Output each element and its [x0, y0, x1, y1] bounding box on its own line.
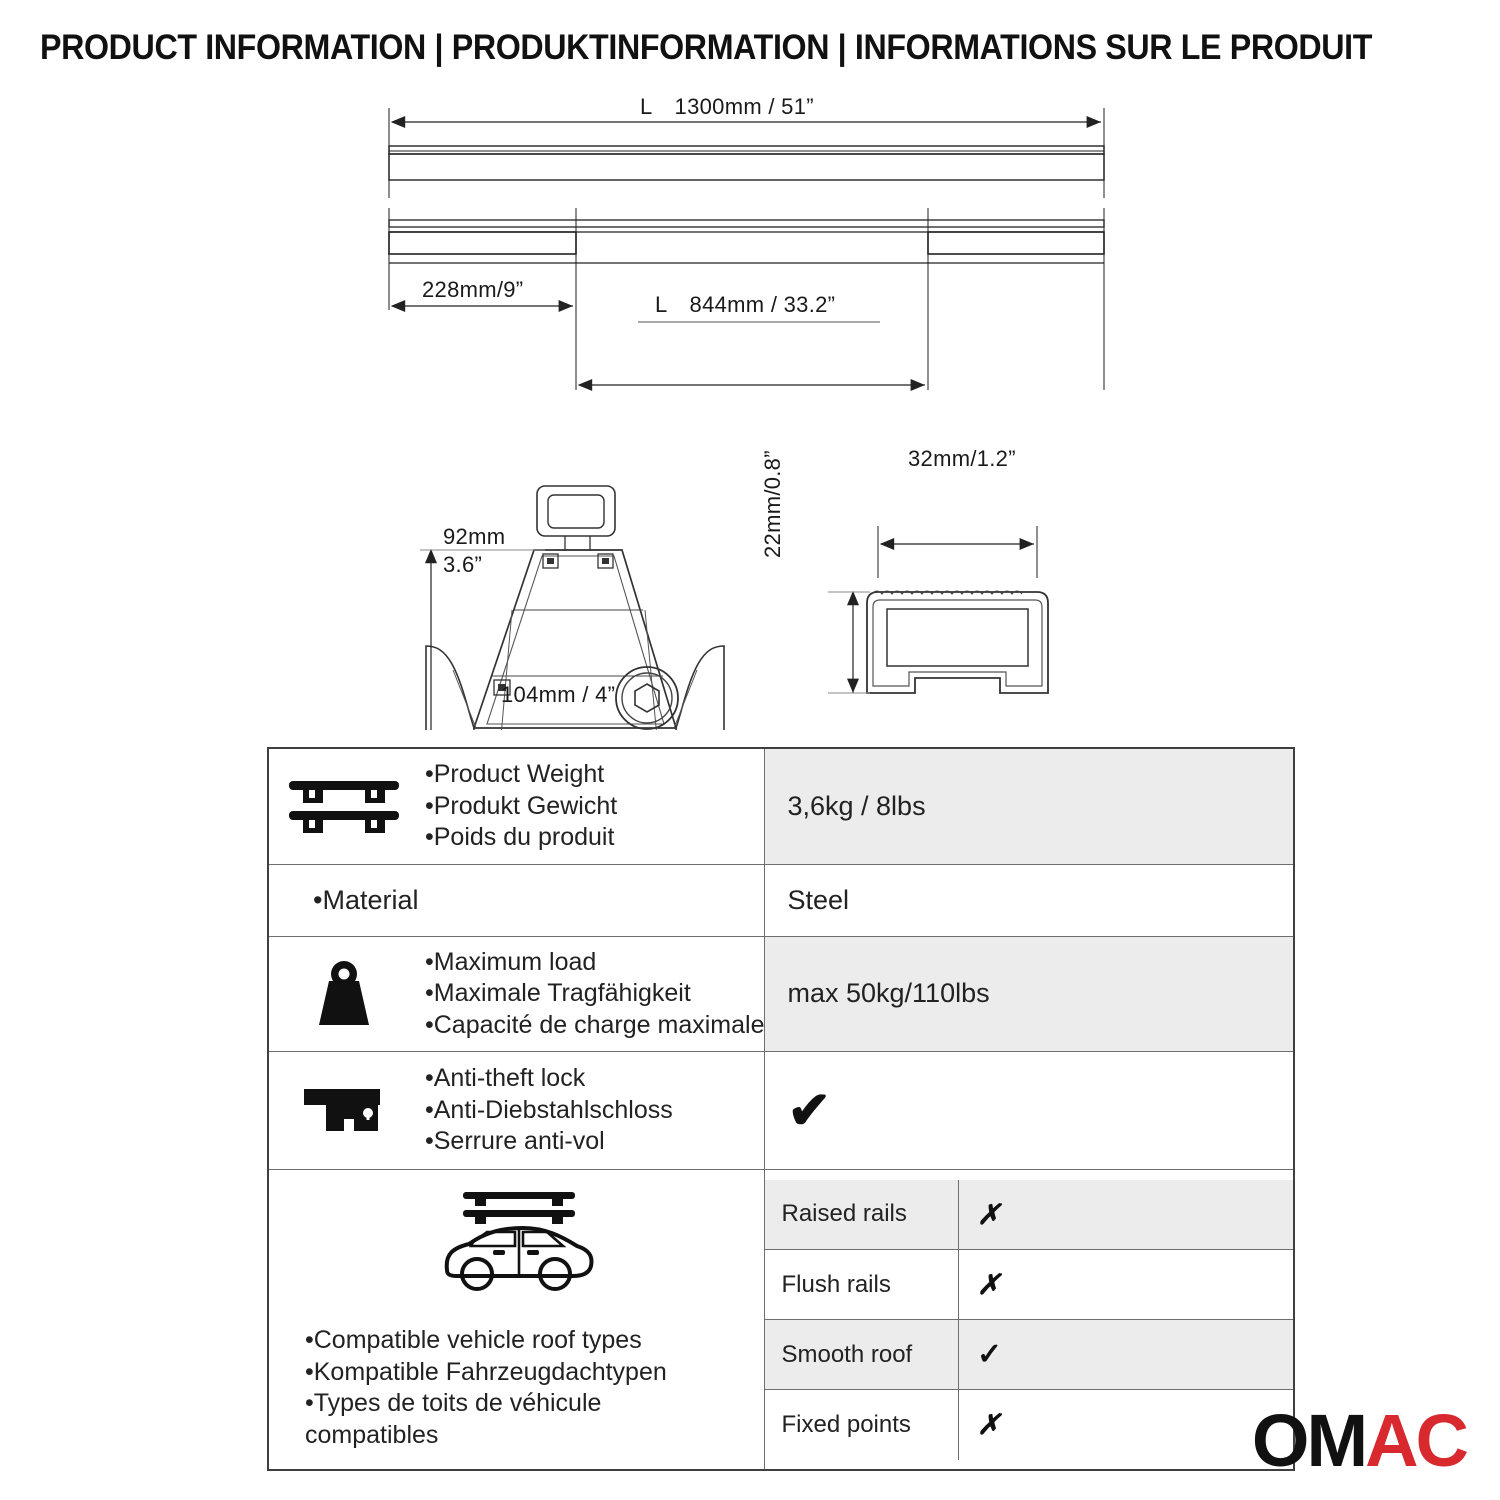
label-fr: •Poids du produit — [425, 822, 617, 854]
label-en: •Compatible vehicle roof types — [305, 1325, 667, 1357]
max-load-label-cell: •Maximum load •Maximale Tragfähigkeit •C… — [268, 936, 765, 1052]
table-row: •Product Weight •Produkt Gewicht •Poids … — [268, 748, 1294, 864]
roof-type-mark-cell: ✓ — [958, 1320, 1293, 1390]
foot-height-inch: 3.6” — [443, 552, 482, 578]
technical-drawing-svg — [0, 80, 1500, 730]
cross-icon: ✗ — [977, 1409, 1000, 1440]
label-en: •Product Weight — [425, 759, 617, 791]
lock-icon — [269, 1083, 419, 1139]
page-title: PRODUCT INFORMATION | PRODUKTINFORMATION… — [40, 28, 1356, 68]
cross-icon: ✗ — [977, 1199, 1000, 1230]
tick-icon: ✓ — [977, 1338, 1002, 1371]
length-symbol: L — [640, 94, 653, 119]
foot-height-mm: 92mm — [443, 524, 505, 550]
max-load-labels: •Maximum load •Maximale Tragfähigkeit •C… — [425, 947, 764, 1042]
foot-width-dimension: 104mm / 4” — [501, 682, 615, 708]
span-value: 844mm / 33.2” — [690, 292, 836, 317]
roof-type-mark-cell: ✗ — [958, 1390, 1293, 1460]
label-de: •Maximale Tragfähigkeit — [425, 978, 764, 1010]
logo-text-black: OM — [1252, 1399, 1365, 1482]
label-fr: •Capacité de charge maximale — [425, 1010, 764, 1042]
table-row: •Material Steel — [268, 864, 1294, 936]
roof-type-row: Flush rails ✗ — [765, 1250, 1293, 1320]
table-row: •Maximum load •Maximale Tragfähigkeit •C… — [268, 936, 1294, 1052]
car-with-roofbars-icon — [431, 1184, 603, 1307]
product-weight-labels: •Product Weight •Produkt Gewicht •Poids … — [425, 759, 617, 854]
material-label: •Material — [269, 885, 764, 916]
foot-offset-dimension: 228mm/9” — [422, 277, 523, 303]
span-dimension: L844mm / 33.2” — [655, 292, 835, 318]
roof-type-mark-cell: ✗ — [958, 1180, 1293, 1250]
label-de: •Produkt Gewicht — [425, 791, 617, 823]
label-de: •Kompatible Fahrzeugdachtypen — [305, 1357, 667, 1389]
anti-theft-label-cell: •Anti-theft lock •Anti-Diebstahlschloss … — [268, 1052, 765, 1170]
roof-type-name: Raised rails — [765, 1180, 958, 1250]
logo-text-red: AC — [1365, 1399, 1466, 1482]
check-icon: ✔ — [787, 1082, 831, 1140]
roof-types-label-cell: •Compatible vehicle roof types •Kompatib… — [268, 1170, 765, 1471]
roof-type-name: Smooth roof — [765, 1320, 958, 1390]
cross-icon: ✗ — [977, 1269, 1000, 1300]
span-symbol: L — [655, 292, 668, 317]
material-value: Steel — [765, 864, 1294, 936]
product-weight-value: 3,6kg / 8lbs — [765, 748, 1294, 864]
roof-type-name: Fixed points — [765, 1390, 958, 1460]
label-en: •Maximum load — [425, 947, 764, 979]
profile-width-dimension: 32mm/1.2” — [908, 446, 1016, 472]
roof-type-name: Flush rails — [765, 1250, 958, 1320]
anti-theft-value-cell: ✔ — [765, 1052, 1294, 1170]
table-row: •Compatible vehicle roof types •Kompatib… — [268, 1170, 1294, 1471]
omac-logo: OMAC — [1252, 1404, 1466, 1478]
material-label-cell: •Material — [268, 864, 765, 936]
max-load-value: max 50kg/110lbs — [765, 936, 1294, 1052]
roof-types-table: Raised rails ✗ Flush rails ✗ — [765, 1180, 1293, 1460]
weight-icon — [269, 957, 419, 1031]
roof-type-mark-cell: ✗ — [958, 1250, 1293, 1320]
roof-types-matrix-cell: Raised rails ✗ Flush rails ✗ — [765, 1170, 1294, 1471]
label-de: •Anti-Diebstahlschloss — [425, 1095, 673, 1127]
product-weight-label-cell: •Product Weight •Produkt Gewicht •Poids … — [268, 748, 765, 864]
product-information-sheet: PRODUCT INFORMATION | PRODUKTINFORMATION… — [0, 0, 1500, 1500]
roof-type-row: Raised rails ✗ — [765, 1180, 1293, 1250]
technical-drawing: L1300mm / 51” 228mm/9” L844mm / 33.2” 92… — [0, 80, 1500, 730]
table-row: •Anti-theft lock •Anti-Diebstahlschloss … — [268, 1052, 1294, 1170]
label-fr: •Serrure anti-vol — [425, 1126, 673, 1158]
roof-type-row: Fixed points ✗ — [765, 1390, 1293, 1460]
profile-height-dimension: 22mm/0.8” — [760, 450, 786, 558]
specification-table: •Product Weight •Produkt Gewicht •Poids … — [267, 747, 1295, 1471]
anti-theft-labels: •Anti-theft lock •Anti-Diebstahlschloss … — [425, 1063, 673, 1158]
bar-length-value: 1300mm / 51” — [675, 94, 814, 119]
bar-length-dimension: L1300mm / 51” — [640, 94, 814, 120]
label-fr: •Types de toits de véhicule — [305, 1388, 667, 1420]
label-fr-cont: compatibles — [305, 1420, 667, 1452]
label-en: •Anti-theft lock — [425, 1063, 673, 1095]
roof-types-labels: •Compatible vehicle roof types •Kompatib… — [269, 1325, 667, 1451]
crossbars-icon — [269, 775, 419, 837]
roof-type-row: Smooth roof ✓ — [765, 1320, 1293, 1390]
